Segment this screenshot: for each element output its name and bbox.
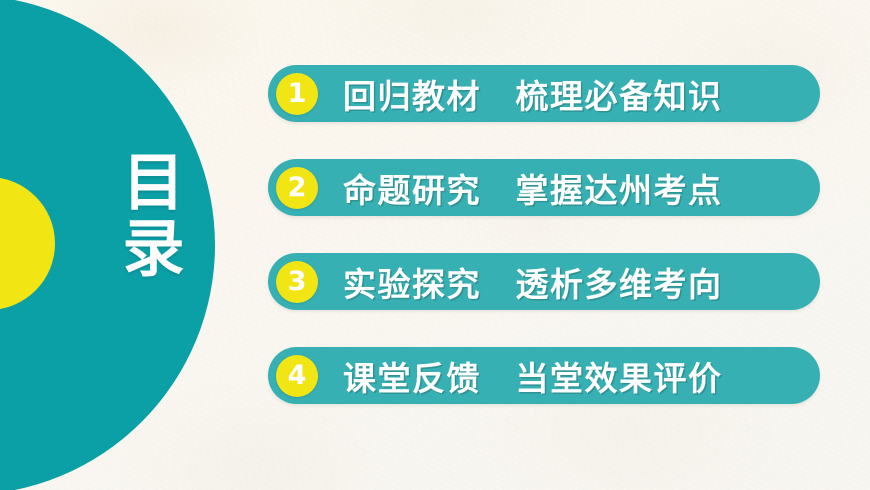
toc-slide: 目 录 1 回归教材 梳理必备知识 2 命题研究 掌握达州考点 3 实验探究 透…	[0, 0, 870, 490]
toc-item-2-number-badge: 2	[276, 167, 318, 209]
toc-item-3-label: 实验探究 透析多维考向	[343, 258, 723, 306]
toc-item-2-label: 命题研究 掌握达州考点	[343, 164, 723, 212]
toc-item-4[interactable]: 4 课堂反馈 当堂效果评价	[268, 347, 820, 404]
toc-item-1-number-badge: 1	[276, 73, 318, 115]
toc-item-1-label: 回归教材 梳理必备知识	[343, 70, 723, 118]
toc-item-4-number-badge: 4	[276, 355, 318, 397]
page-title: 目 录	[108, 150, 200, 281]
toc-item-3-number-badge: 3	[276, 261, 318, 303]
toc-menu-list: 1 回归教材 梳理必备知识 2 命题研究 掌握达州考点 3 实验探究 透析多维考…	[268, 65, 820, 404]
toc-item-4-label: 课堂反馈 当堂效果评价	[343, 352, 723, 400]
toc-item-2[interactable]: 2 命题研究 掌握达州考点	[268, 159, 820, 216]
toc-item-1[interactable]: 1 回归教材 梳理必备知识	[268, 65, 820, 122]
toc-item-3[interactable]: 3 实验探究 透析多维考向	[268, 253, 820, 310]
